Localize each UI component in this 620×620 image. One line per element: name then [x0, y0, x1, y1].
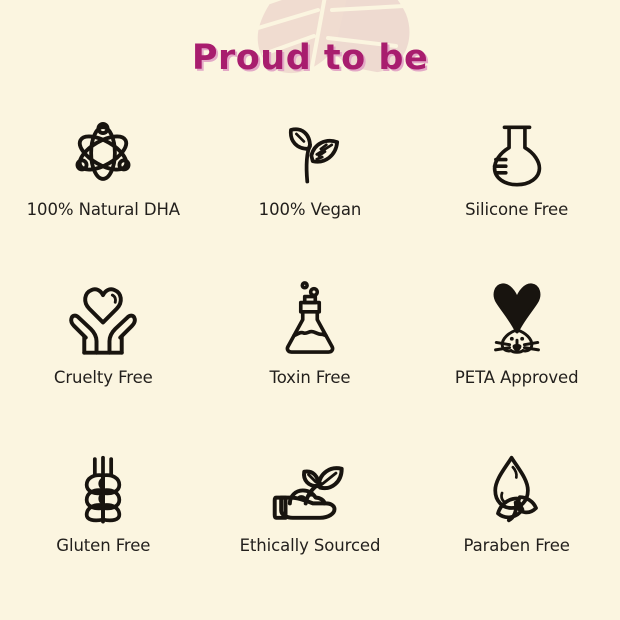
badge-item: Ethically Sourced: [207, 448, 414, 616]
peta-rabbit-heart-icon: [480, 280, 554, 362]
badge-label: Silicone Free: [465, 200, 568, 219]
water-drop-leaf-icon: [483, 448, 551, 530]
badge-label: PETA Approved: [455, 368, 579, 387]
badge-label: Cruelty Free: [54, 368, 153, 387]
bubbling-flask-icon: [277, 280, 343, 362]
atom-icon: [68, 112, 138, 194]
badge-item: Gluten Free: [0, 448, 207, 616]
badge-label: Toxin Free: [270, 368, 351, 387]
badge-grid: 100% Natural DHA: [0, 112, 620, 616]
hands-heart-icon: [67, 280, 139, 362]
sprout-leaves-icon: [276, 112, 344, 194]
badge-item: 100% Natural DHA: [0, 112, 207, 280]
badge-label: Ethically Sourced: [240, 536, 381, 555]
badge-label: Gluten Free: [56, 536, 150, 555]
round-flask-icon: [484, 112, 550, 194]
badge-item: Silicone Free: [413, 112, 620, 280]
proud-to-be-badges-panel: Proud to be 100% Na: [0, 0, 620, 620]
page-title: Proud to be: [192, 38, 428, 78]
badge-item: 100% Vegan: [207, 112, 414, 280]
badge-label: Paraben Free: [463, 536, 569, 555]
badge-item: PETA Approved: [413, 280, 620, 448]
badge-item: Toxin Free: [207, 280, 414, 448]
wheat-stalk-icon: [69, 448, 137, 530]
hand-plant-soil-icon: [274, 448, 346, 530]
badge-item: Cruelty Free: [0, 280, 207, 448]
badge-label: 100% Vegan: [259, 200, 362, 219]
badge-item: Paraben Free: [413, 448, 620, 616]
badge-label: 100% Natural DHA: [27, 200, 180, 219]
page-title-container: Proud to be: [0, 38, 620, 78]
